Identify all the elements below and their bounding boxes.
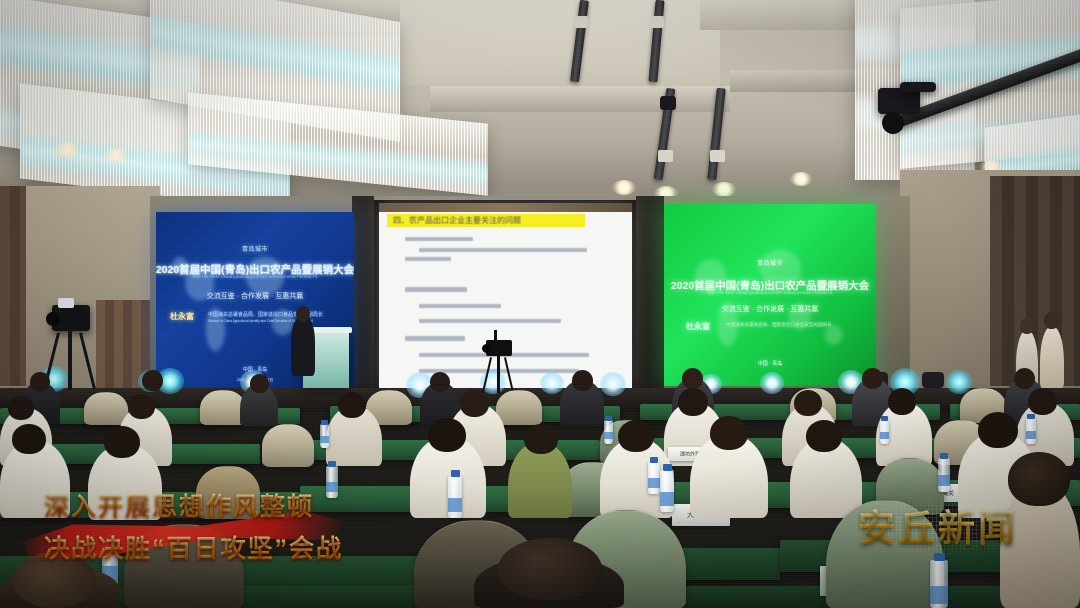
bottle-label — [448, 498, 462, 512]
speaker-body — [291, 316, 315, 376]
bottle-label — [604, 432, 613, 439]
audience-chair — [262, 424, 314, 467]
audience-person-head — [460, 390, 489, 417]
left-screen-speaker-name: 杜永富 — [170, 311, 194, 322]
audience-person-head — [794, 390, 822, 416]
audience-person-head — [142, 370, 163, 391]
bottle-label — [938, 475, 950, 486]
wall-divider-right — [636, 196, 664, 396]
tv-camera-left-tripod — [68, 330, 72, 390]
camera-crane-lens-icon — [882, 112, 904, 134]
channel-watermark: 安丘新闻 — [858, 498, 1018, 552]
wall-wood-left — [0, 186, 26, 386]
water-bottle — [320, 424, 329, 448]
audience-person-head — [128, 394, 155, 419]
audience-person-head — [8, 396, 34, 420]
bottle-label — [320, 436, 329, 443]
ceiling-downlight-1 — [54, 142, 80, 158]
left-screen-logo: 青岛城市 — [242, 244, 268, 253]
stage-wash-light — [760, 372, 784, 394]
right-screen-tags: 交流互鉴 · 合作发展 · 互惠共赢 — [722, 304, 818, 314]
slide-body-line — [405, 287, 467, 292]
slide-body-line — [419, 319, 561, 323]
tv-camera-center-tripod — [497, 355, 500, 393]
audience-person-head — [888, 388, 916, 415]
staff-person-standing — [1040, 326, 1064, 388]
stage-light-fixture — [922, 372, 944, 388]
audience-person-head — [978, 412, 1018, 448]
news-caption: 深入开展思想作风整顿 决战决胜“百日攻坚”会战 — [44, 487, 374, 565]
audience-person-head — [428, 418, 466, 452]
audience-person-head — [1028, 388, 1057, 415]
slide-header-bar — [379, 203, 632, 212]
audience-person-head — [862, 368, 883, 389]
audience-person-head — [806, 420, 842, 452]
staff-person-head — [1044, 312, 1059, 329]
water-bottle — [648, 462, 660, 494]
speaker-head — [296, 306, 310, 322]
audience-chair — [84, 392, 128, 425]
ceiling-downlight-6 — [790, 172, 812, 186]
bottle-cap — [605, 416, 612, 421]
audience-person-head — [710, 416, 748, 450]
water-bottle — [1026, 418, 1036, 444]
bottle-cap — [451, 470, 460, 477]
audience-person-head — [618, 420, 654, 452]
track-light-head-3 — [658, 150, 673, 162]
slide-title-highlight: 四、农产品出口企业主要关注的问题 — [387, 214, 585, 227]
audience-person-head — [30, 372, 50, 392]
audience-person-head — [338, 392, 366, 418]
left-screen-tags: 交流互鉴 · 合作发展 · 互惠共赢 — [207, 291, 303, 301]
bottle-cap — [328, 461, 336, 467]
ceiling-downlight-5 — [712, 182, 736, 197]
bottle-label — [1026, 431, 1036, 439]
caption-line-2: 决战决胜“百日攻坚”会战 — [44, 529, 374, 565]
water-bottle — [930, 560, 948, 608]
caption-line-1: 深入开展思想作风整顿 — [44, 487, 374, 523]
water-bottle — [604, 420, 613, 444]
audience-person-head — [250, 374, 269, 393]
ceiling-slab-center — [400, 0, 720, 86]
stage-wash-light — [540, 372, 564, 394]
ceiling-downlight-3 — [612, 180, 636, 195]
audience-person-head — [104, 426, 140, 458]
bottle-cap — [940, 453, 948, 459]
left-screen-subtitle: 2020 THE FIRST CHINA (QINGDAO) EXPORT AG… — [193, 275, 318, 279]
wall-divider-mid — [352, 196, 374, 396]
camera-crane-mount — [900, 82, 936, 92]
bottle-label — [648, 478, 660, 488]
bottle-label — [930, 586, 948, 604]
broadcast-frame: 青岛城市 2020首届中国(青岛)出口农产品暨展销大会 2020 THE FIR… — [0, 0, 1080, 608]
water-bottle — [880, 420, 889, 444]
audience-person-head — [524, 424, 558, 454]
audience-chair — [496, 390, 542, 425]
tv-camera-left-viewfinder — [58, 298, 74, 308]
audience-person-head — [678, 388, 708, 416]
right-screen-speaker-title: 中国海关总署食品局、国家进出口食品安全局副局长 — [726, 322, 832, 328]
bottle-label — [660, 492, 674, 506]
bottle-cap — [321, 420, 328, 425]
ceiling-beam-mid — [430, 86, 730, 112]
slide-title: 四、农产品出口企业主要关注的问题 — [393, 215, 521, 226]
audience-person-head — [1014, 368, 1035, 389]
bottle-cap — [650, 457, 658, 463]
water-bottle — [938, 458, 950, 492]
slide-body-line — [419, 248, 587, 252]
right-screen-logo: 青岛城市 — [757, 258, 783, 267]
bottle-label — [880, 432, 889, 439]
world-map-graphic-green — [664, 204, 876, 386]
tv-camera-center-arm — [494, 330, 497, 344]
ceiling-downlight-2 — [104, 148, 128, 163]
right-screen-subtitle: 2020 THE FIRST CHINA (QINGDAO) EXPORT AG… — [708, 291, 833, 295]
led-screen-right: 青岛城市 2020首届中国(青岛)出口农产品暨展销大会 2020 THE FIR… — [664, 204, 876, 386]
audience-person-head — [682, 368, 703, 389]
stage-wash-light — [600, 372, 626, 396]
audience-person-head — [12, 424, 46, 454]
right-screen-speaker-name: 杜永富 — [686, 321, 710, 332]
bottle-cap — [1027, 414, 1035, 419]
slide-body-line — [419, 304, 501, 308]
slide-body-line — [405, 257, 451, 261]
bottle-cap — [663, 464, 672, 471]
slide-body-line — [405, 336, 465, 341]
slide-body-line — [405, 237, 473, 241]
track-light-head-2 — [650, 16, 664, 28]
water-bottle — [660, 470, 674, 512]
staff-person-head — [1020, 318, 1034, 334]
tv-camera-left-lens-icon — [46, 312, 60, 326]
audience-person-head — [430, 372, 450, 392]
bottle-cap — [881, 416, 888, 421]
track-light-head-4 — [710, 150, 725, 162]
ceiling-speaker — [660, 96, 676, 110]
track-light-head-1 — [574, 16, 588, 28]
right-screen-footer-location: 中国 · 青岛 — [758, 360, 782, 367]
audience-person-head — [498, 538, 602, 600]
water-bottle — [448, 476, 462, 518]
audience-person-head — [572, 370, 593, 391]
tv-camera-center-lens-icon — [482, 344, 491, 353]
